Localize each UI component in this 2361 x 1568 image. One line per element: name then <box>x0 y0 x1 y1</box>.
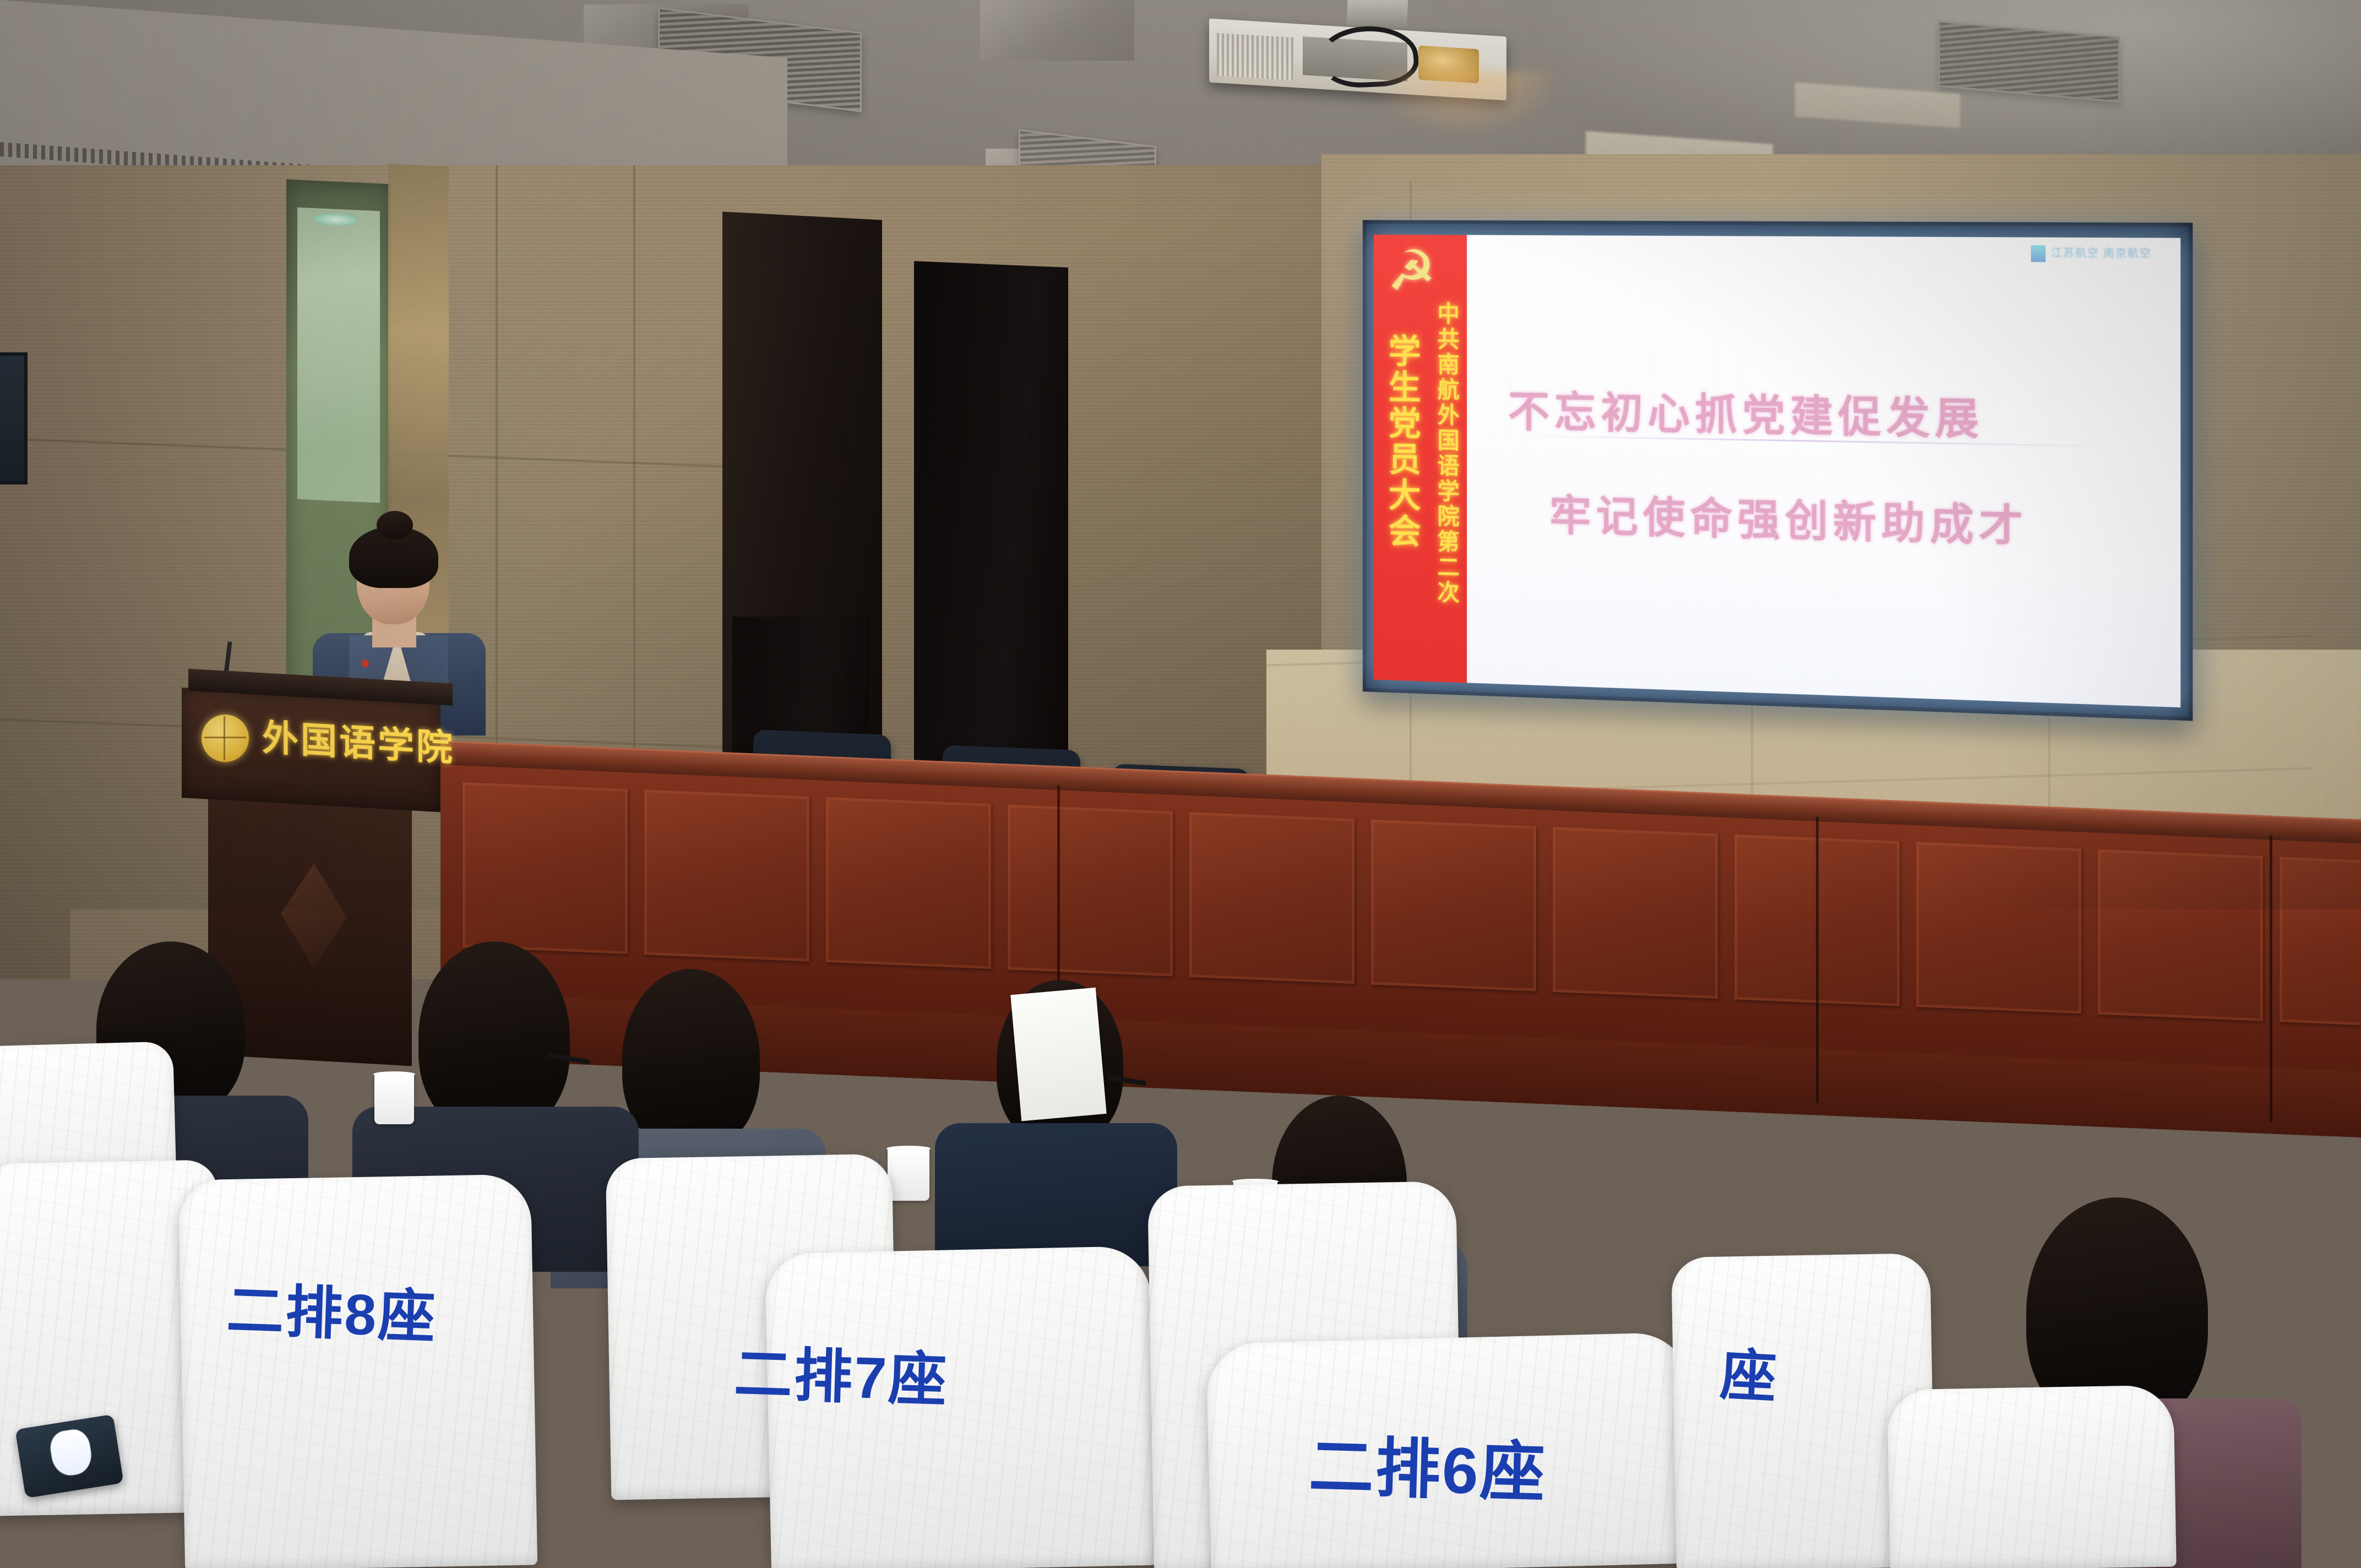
rostrum-panel <box>1008 804 1173 976</box>
speaker-party-pin <box>361 660 369 667</box>
rostrum-panel <box>644 790 809 961</box>
audience-head <box>622 969 760 1151</box>
audience-shoulders <box>935 1123 1177 1266</box>
rostrum-panel <box>826 797 991 969</box>
seat-cover <box>329 1407 618 1568</box>
projection-screen-surface: ☭ 中共南航外国语学院第二次 学生党员大会 江苏航空 南京航空 不忘初心抓党建促… <box>1374 235 2180 707</box>
projector-vent-grille <box>1217 33 1294 81</box>
slide-headline-2: 牢记使命强创新助成才 <box>1549 482 2180 558</box>
conference-hall-photo: ☭ 中共南航外国语学院第二次 学生党员大会 江苏航空 南京航空 不忘初心抓党建促… <box>0 0 2361 1568</box>
congress-banner: ☭ 中共南航外国语学院第二次 学生党员大会 <box>1374 235 1467 683</box>
seat-cover-row2-seat6: 二排6座 <box>1206 1332 1696 1568</box>
logo-mark-icon <box>2031 245 2046 262</box>
paper-cup <box>1949 1266 2002 1335</box>
rostrum-panel <box>1189 812 1354 984</box>
wall-mounted-display <box>0 352 28 484</box>
banner-subtitle: 中共南航外国语学院第二次 <box>1431 302 1463 683</box>
globe-logo-icon <box>202 715 249 762</box>
seat-label: 二排6座 <box>1308 1413 1548 1514</box>
rostrum-panel <box>463 782 628 954</box>
document-paper <box>1010 988 1106 1121</box>
rostrum-joint <box>2270 835 2272 1121</box>
seat-cover <box>1887 1385 2177 1568</box>
banner-title: 学生党员大会 <box>1378 333 1424 681</box>
door-glass-panel <box>297 208 380 503</box>
seat-label: 二排7座 <box>733 1326 950 1417</box>
slide-corner-logo: 江苏航空 南京航空 <box>2031 245 2152 263</box>
rostrum-panel <box>2280 857 2361 1027</box>
rostrum-joint <box>1816 816 1819 1103</box>
projector-mount <box>1346 0 1408 29</box>
hammer-and-sickle-emblem: ☭ <box>1387 243 1448 303</box>
paper-cup <box>888 1148 929 1201</box>
projector-beam-glow <box>1366 72 1564 138</box>
rostrum-panel <box>1371 819 1536 991</box>
seat-label: 座 <box>1718 1330 1781 1413</box>
seat-label: 二排8座 <box>225 1263 438 1353</box>
rostrum-panel <box>1553 827 1718 999</box>
ceiling-recess <box>980 0 1134 61</box>
rostrum-panel <box>1916 842 2081 1014</box>
projection-screen: ☭ 中共南航外国语学院第二次 学生党员大会 江苏航空 南京航空 不忘初心抓党建促… <box>1363 220 2193 721</box>
slide-logo-text: 江苏航空 南京航空 <box>2051 247 2151 261</box>
phone-screen <box>48 1427 94 1478</box>
slide-content: 江苏航空 南京航空 不忘初心抓党建促发展 牢记使命强创新助成才 <box>1467 235 2180 707</box>
seat-cover-row2-seat7: 二排7座 <box>765 1246 1157 1568</box>
rostrum-panel <box>2098 849 2263 1021</box>
speaker-hair-bun <box>377 511 413 540</box>
podium-sign-text: 外国语学院 <box>262 708 455 772</box>
audience-head <box>418 941 570 1134</box>
slide-headline-1: 不忘初心抓党建促发展 <box>1508 378 2180 451</box>
paper-cup <box>374 1074 414 1124</box>
